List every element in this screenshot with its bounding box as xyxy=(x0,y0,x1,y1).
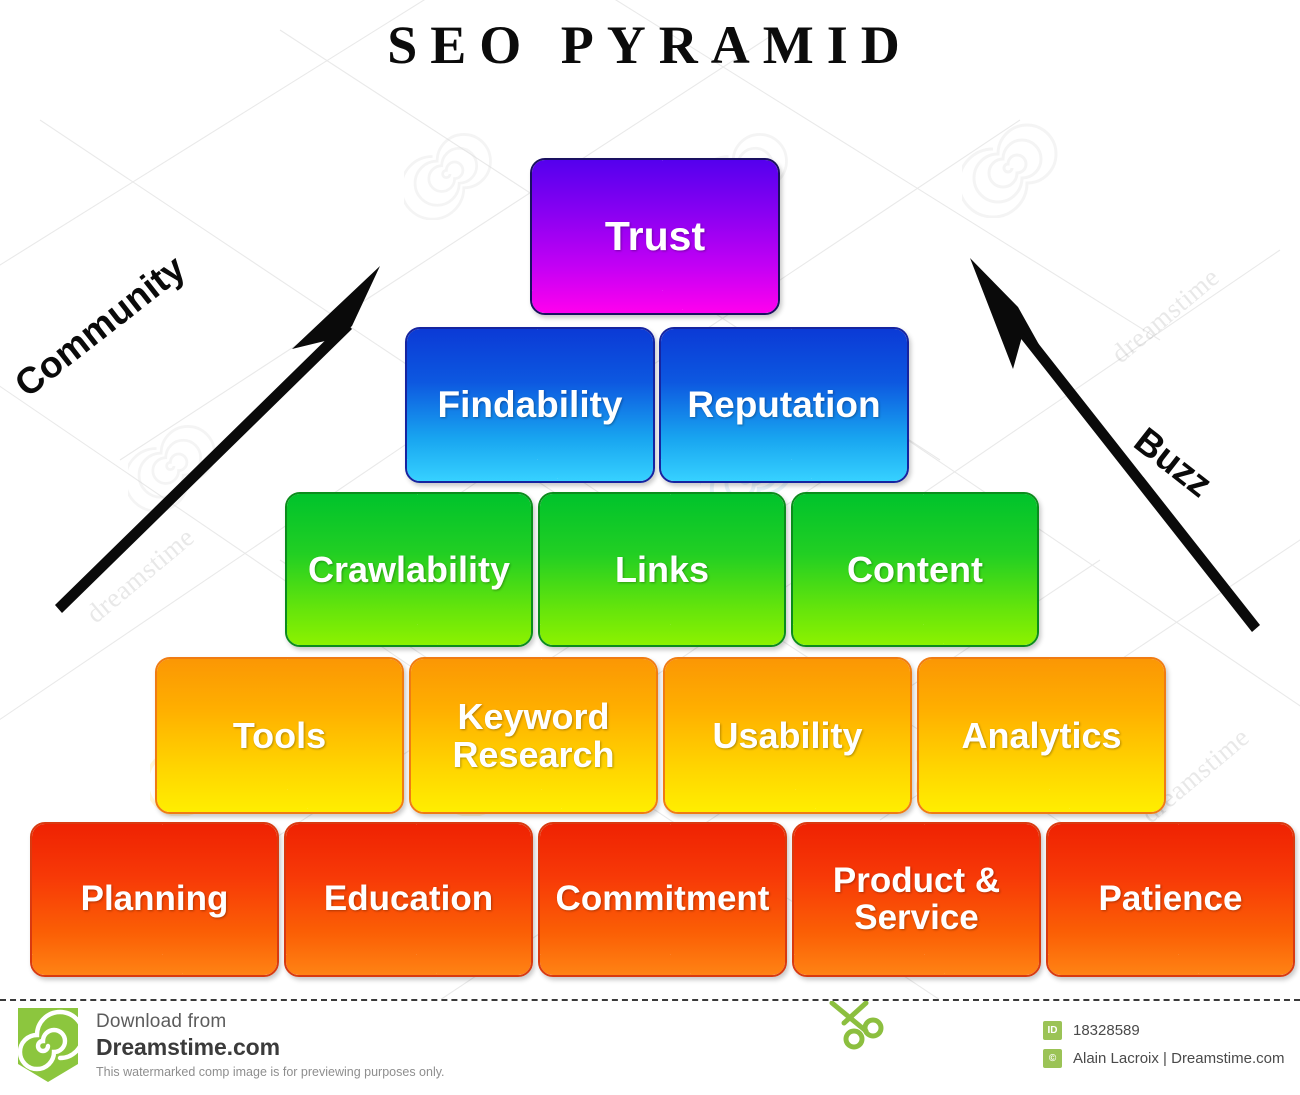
copyright-row: © Alain Lacroix | Dreamstime.com xyxy=(1043,1044,1284,1072)
image-id-value: 18328589 xyxy=(1073,1022,1140,1039)
copyright-value: Alain Lacroix | Dreamstime.com xyxy=(1073,1050,1284,1067)
pyramid-box-crawlability[interactable]: Crawlability xyxy=(285,492,533,647)
pyramid-box-label: Commitment xyxy=(556,881,770,918)
pyramid-box-label: Tools xyxy=(233,717,326,755)
pyramid-box-content[interactable]: Content xyxy=(791,492,1039,647)
page-title: SEO PYRAMID xyxy=(0,14,1300,76)
pyramid-level-green: Crawlability Links Content xyxy=(285,492,1039,647)
dreamstime-footer: Download from Dreamstime.com This waterm… xyxy=(0,999,1300,1095)
pyramid-level-red: Planning Education Commitment Product & … xyxy=(30,822,1295,977)
image-id-row: ID 18328589 xyxy=(1043,1016,1284,1044)
footer-divider xyxy=(0,999,1300,1001)
pyramid-box-keyword-research[interactable]: Keyword Research xyxy=(409,657,658,814)
copyright-badge-icon: © xyxy=(1043,1049,1062,1068)
pyramid-box-label: Usability xyxy=(712,717,862,755)
pyramid-box-analytics[interactable]: Analytics xyxy=(917,657,1166,814)
pyramid-box-label: Product & Service xyxy=(800,863,1033,937)
pyramid-box-label: Keyword Research xyxy=(417,698,650,774)
watermark-disclaimer: This watermarked comp image is for previ… xyxy=(96,1065,445,1079)
pyramid-box-findability[interactable]: Findability xyxy=(405,327,655,483)
id-badge-icon: ID xyxy=(1043,1021,1062,1040)
pyramid-box-planning[interactable]: Planning xyxy=(30,822,279,977)
pyramid: Trust Findability Reputation Crawlabilit… xyxy=(0,0,1300,1095)
dreamstime-text-block: Download from Dreamstime.com This waterm… xyxy=(96,1011,445,1079)
pyramid-box-label: Links xyxy=(615,551,709,589)
pyramid-box-patience[interactable]: Patience xyxy=(1046,822,1295,977)
pyramid-box-label: Reputation xyxy=(687,386,880,425)
pyramid-level-trust: Trust xyxy=(530,158,780,315)
download-from-label: Download from xyxy=(96,1011,445,1033)
pyramid-box-reputation[interactable]: Reputation xyxy=(659,327,909,483)
pyramid-level-blue: Findability Reputation xyxy=(405,327,909,483)
dreamstime-shield-logo xyxy=(16,1008,80,1084)
pyramid-box-label: Analytics xyxy=(961,717,1121,755)
pyramid-box-tools[interactable]: Tools xyxy=(155,657,404,814)
pyramid-box-education[interactable]: Education xyxy=(284,822,533,977)
pyramid-level-orange: Tools Keyword Research Usability Analyti… xyxy=(155,657,1166,814)
pyramid-box-label: Planning xyxy=(81,881,229,918)
pyramid-box-label: Content xyxy=(847,551,983,589)
pyramid-box-label: Findability xyxy=(438,386,623,425)
pyramid-box-trust[interactable]: Trust xyxy=(530,158,780,315)
pyramid-box-label: Education xyxy=(324,881,493,918)
dreamstime-brand: Dreamstime.com xyxy=(96,1034,445,1061)
pyramid-box-product-service[interactable]: Product & Service xyxy=(792,822,1041,977)
pyramid-box-label: Patience xyxy=(1099,881,1243,918)
scissors-icon xyxy=(826,1001,896,1057)
pyramid-box-commitment[interactable]: Commitment xyxy=(538,822,787,977)
pyramid-box-label: Trust xyxy=(605,215,705,258)
pyramid-box-links[interactable]: Links xyxy=(538,492,786,647)
pyramid-box-label: Crawlability xyxy=(308,551,510,589)
seo-pyramid-image: dreamstime dreamstime dreamstime dreamst… xyxy=(0,0,1300,1095)
image-meta: ID 18328589 © Alain Lacroix | Dreamstime… xyxy=(1043,1016,1284,1072)
pyramid-box-usability[interactable]: Usability xyxy=(663,657,912,814)
